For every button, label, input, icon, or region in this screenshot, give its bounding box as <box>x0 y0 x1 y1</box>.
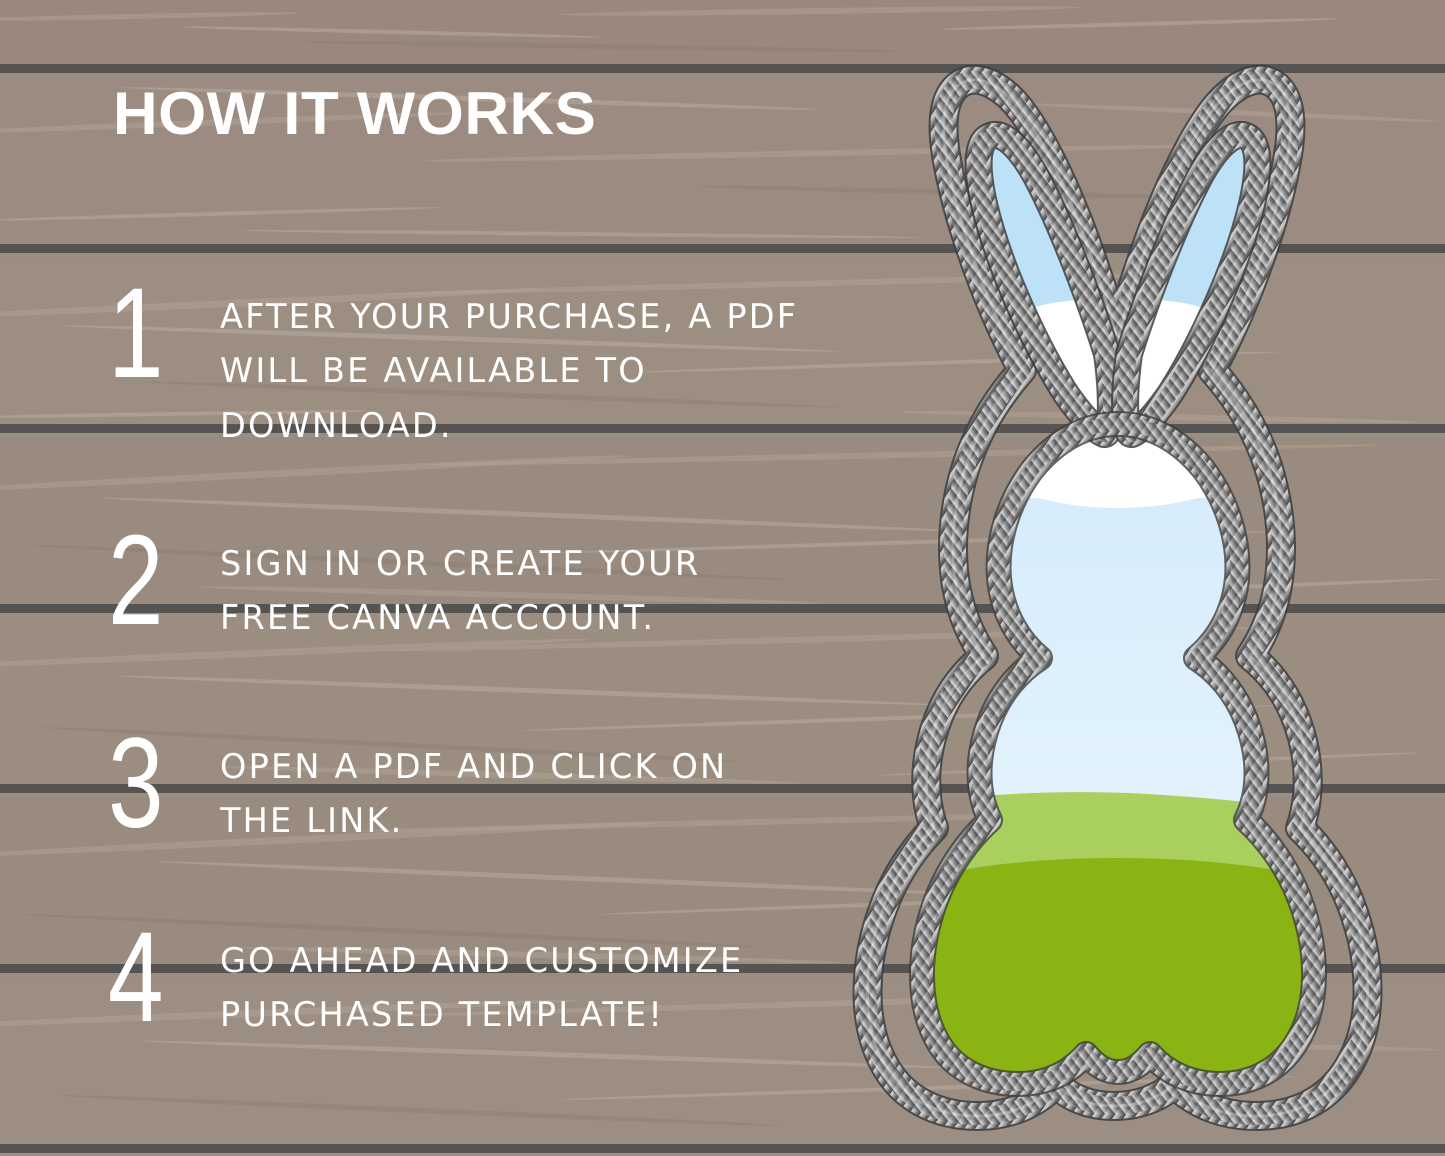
step-number: 3 <box>108 728 195 841</box>
step-text: After your purchase, a PDF will be avail… <box>220 278 800 453</box>
step-text: Open a PDF and click on the link. <box>220 728 800 849</box>
bunny-applique-svg <box>818 58 1418 1148</box>
step-text: Sign in or create your free Canva accoun… <box>220 525 800 646</box>
step-number: 4 <box>108 922 195 1035</box>
step-item-4: 4 Go ahead and customize purchased templ… <box>108 922 828 1043</box>
poster-canvas: HOW IT WORKS 1 After your purchase, a PD… <box>0 0 1445 1156</box>
step-item-3: 3 Open a PDF and click on the link. <box>108 728 828 849</box>
step-number: 1 <box>108 278 195 391</box>
step-item-1: 1 After your purchase, a PDF will be ava… <box>108 278 828 453</box>
step-number: 2 <box>108 525 195 638</box>
page-title: HOW IT WORKS <box>113 84 596 144</box>
step-text: Go ahead and customize purchased templat… <box>220 922 800 1043</box>
step-item-2: 2 Sign in or create your free Canva acco… <box>108 525 828 646</box>
bunny-applique-artwork <box>818 58 1418 1148</box>
